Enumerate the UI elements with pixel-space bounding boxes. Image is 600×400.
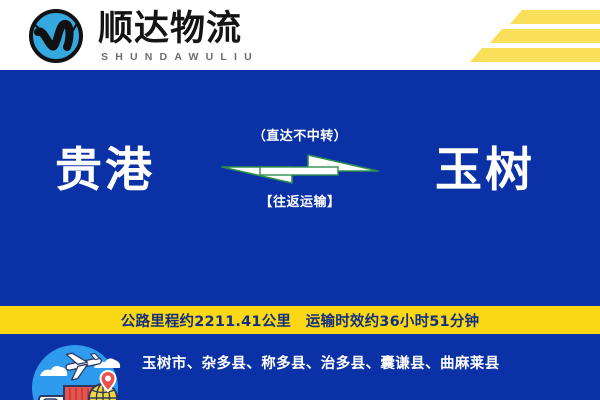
brand-text-block: 顺达物流 SHUNDAWULIU [98, 9, 259, 64]
logistics-route-banner: 顺达物流 SHUNDAWULIU 贵港 （直达不中转） [0, 0, 600, 400]
destination-city: 玉树 [390, 110, 580, 230]
distance-duration-bar: 公路里程约2211.41公里 运输时效约36小时51分钟 [0, 306, 600, 334]
bidirectional-arrow-icon [220, 152, 380, 186]
coverage-area-text: 玉树市、杂多县、称多县、治多县、囊谦县、曲麻莱县 [142, 352, 500, 373]
stripe-1 [510, 10, 600, 24]
swoosh-circle-logo-icon [26, 6, 86, 66]
distance-duration-text: 公路里程约2211.41公里 运输时效约36小时51分钟 [121, 310, 480, 331]
route-note-top: （直达不中转） [253, 129, 348, 145]
banner-header: 顺达物流 SHUNDAWULIU [0, 0, 600, 70]
brand-logo: 顺达物流 SHUNDAWULIU [26, 6, 259, 66]
banner-body: 贵港 （直达不中转） 【往返运输】 玉树 [0, 70, 600, 400]
route-middle: （直达不中转） 【往返运输】 [205, 110, 395, 230]
origin-city: 贵港 [10, 110, 200, 230]
brand-name-en: SHUNDAWULIU [101, 50, 259, 64]
stripe-2 [490, 29, 600, 43]
route-row: 贵港 （直达不中转） 【往返运输】 玉树 [0, 110, 600, 230]
route-note-bottom: 【往返运输】 [259, 195, 340, 211]
brand-name-cn: 顺达物流 [98, 9, 259, 49]
coverage-row: 玉树市、杂多县、称多县、治多县、囊谦县、曲麻莱县 [0, 342, 600, 382]
decorative-stripes [330, 0, 600, 70]
stripe-3 [470, 48, 600, 62]
